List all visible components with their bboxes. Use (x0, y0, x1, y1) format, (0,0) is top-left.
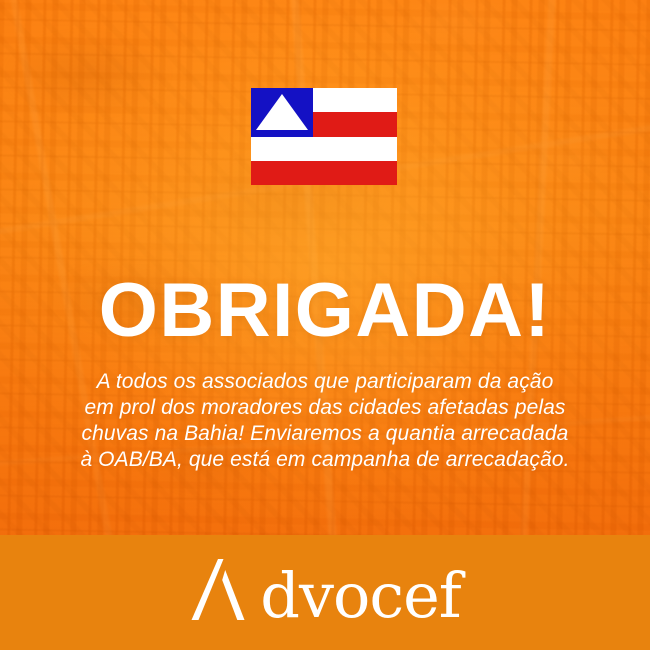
flag-triangle-icon (256, 94, 308, 130)
paragraph-line: à OAB/BA, que está em campanha de arreca… (34, 447, 616, 473)
page-title: OBRIGADA! (0, 273, 650, 349)
paragraph-line: chuvas na Bahia! Enviaremos a quantia ar… (34, 421, 616, 447)
bahia-flag (251, 88, 397, 185)
paragraph-line: em prol dos moradores das cidades afetad… (34, 395, 616, 421)
flag-stripe-red-bottom (251, 161, 397, 185)
flag-graphic (251, 88, 397, 185)
flag-stripe-white-lower (251, 137, 397, 161)
flag-canton-blue (251, 88, 313, 137)
advocef-logo: dvocef (189, 557, 460, 623)
brand-footer-band: dvocef (0, 535, 650, 650)
advocef-wordmark: dvocef (260, 569, 460, 622)
poster-canvas: OBRIGADA! A todos os associados que part… (0, 0, 650, 650)
paragraph-line: A todos os associados que participaram d… (34, 369, 616, 395)
advocef-a-mark-icon (189, 557, 259, 623)
message-paragraph: A todos os associados que participaram d… (34, 369, 616, 473)
